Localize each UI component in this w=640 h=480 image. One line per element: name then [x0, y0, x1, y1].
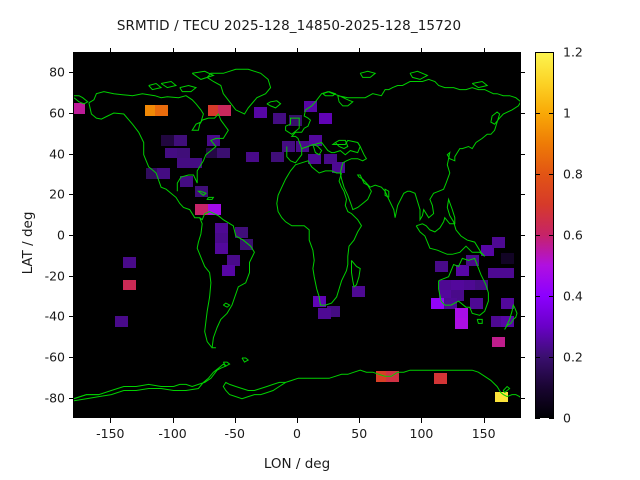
x-axis-tick: [235, 418, 236, 423]
y-axis-title: LAT / deg: [20, 143, 36, 343]
x-axis-tick: [421, 418, 422, 423]
heatmap-canvas: [74, 53, 520, 417]
y-axis-tick: [69, 113, 74, 114]
y-axis-tick: [69, 398, 74, 399]
y-axis-tick: [520, 194, 525, 195]
map-plot-area[interactable]: [73, 52, 521, 418]
colorbar-tick-label: 0: [563, 411, 571, 426]
x-axis-tick-label: -50: [225, 426, 245, 441]
x-axis-tick: [421, 48, 422, 53]
y-axis-tick: [520, 113, 525, 114]
colorbar-tick-label: 0.2: [563, 350, 583, 365]
y-axis-tick: [520, 276, 525, 277]
colorbar-tick: [535, 113, 540, 114]
y-axis-tick: [69, 316, 74, 317]
y-axis-tick: [69, 357, 74, 358]
y-axis-tick-label: -80: [25, 390, 65, 405]
colorbar-tick-label: 1: [563, 106, 571, 121]
x-axis-tick: [173, 418, 174, 423]
y-axis-tick: [69, 276, 74, 277]
colorbar-tick: [535, 174, 540, 175]
x-axis-tick-label: 150: [472, 426, 496, 441]
y-axis-tick: [520, 398, 525, 399]
colorbar-tick: [535, 418, 540, 419]
x-axis-tick: [173, 48, 174, 53]
x-axis-tick: [110, 48, 111, 53]
y-axis-tick-label: 60: [25, 106, 65, 121]
colorbar-tick: [535, 235, 540, 236]
x-axis-tick: [235, 48, 236, 53]
colorbar-tick: [535, 52, 540, 53]
y-axis-tick: [69, 154, 74, 155]
x-axis-tick: [297, 48, 298, 53]
chart-title: SRMTID / TECU 2025-128_14850-2025-128_15…: [0, 18, 578, 34]
x-axis-tick-label: 50: [351, 426, 367, 441]
colorbar-tick-label: 0.8: [563, 167, 583, 182]
colorbar-tick: [549, 235, 554, 236]
x-axis-title: LON / deg: [73, 456, 521, 472]
colorbar-tick-label: 1.2: [563, 45, 583, 60]
y-axis-tick: [520, 235, 525, 236]
x-axis-tick-label: 0: [293, 426, 301, 441]
y-axis-tick: [69, 194, 74, 195]
x-axis-tick-label: -100: [158, 426, 186, 441]
x-axis-tick: [359, 48, 360, 53]
x-axis-tick: [484, 418, 485, 423]
y-axis-tick: [69, 235, 74, 236]
figure-root: SRMTID / TECU 2025-128_14850-2025-128_15…: [0, 0, 640, 480]
colorbar-tick: [549, 174, 554, 175]
x-axis-tick: [484, 48, 485, 53]
y-axis-tick: [69, 72, 74, 73]
coastline-layer: [74, 53, 520, 417]
y-axis-tick-label: 80: [25, 65, 65, 80]
y-axis-tick: [520, 316, 525, 317]
colorbar-tick: [549, 296, 554, 297]
colorbar-tick: [535, 296, 540, 297]
colorbar-tick: [549, 113, 554, 114]
y-axis-tick: [520, 357, 525, 358]
colorbar-tick-label: 0.6: [563, 228, 583, 243]
y-axis-tick-label: -60: [25, 350, 65, 365]
y-axis-tick: [520, 72, 525, 73]
colorbar-tick: [549, 418, 554, 419]
colorbar-tick: [549, 52, 554, 53]
colorbar-tick: [549, 357, 554, 358]
colorbar-tick-label: 0.4: [563, 289, 583, 304]
x-axis-tick: [359, 418, 360, 423]
x-axis-tick: [297, 418, 298, 423]
x-axis-tick-label: -150: [96, 426, 124, 441]
y-axis-tick: [520, 154, 525, 155]
x-axis-tick: [110, 418, 111, 423]
colorbar-tick: [535, 357, 540, 358]
x-axis-tick-label: 100: [410, 426, 434, 441]
